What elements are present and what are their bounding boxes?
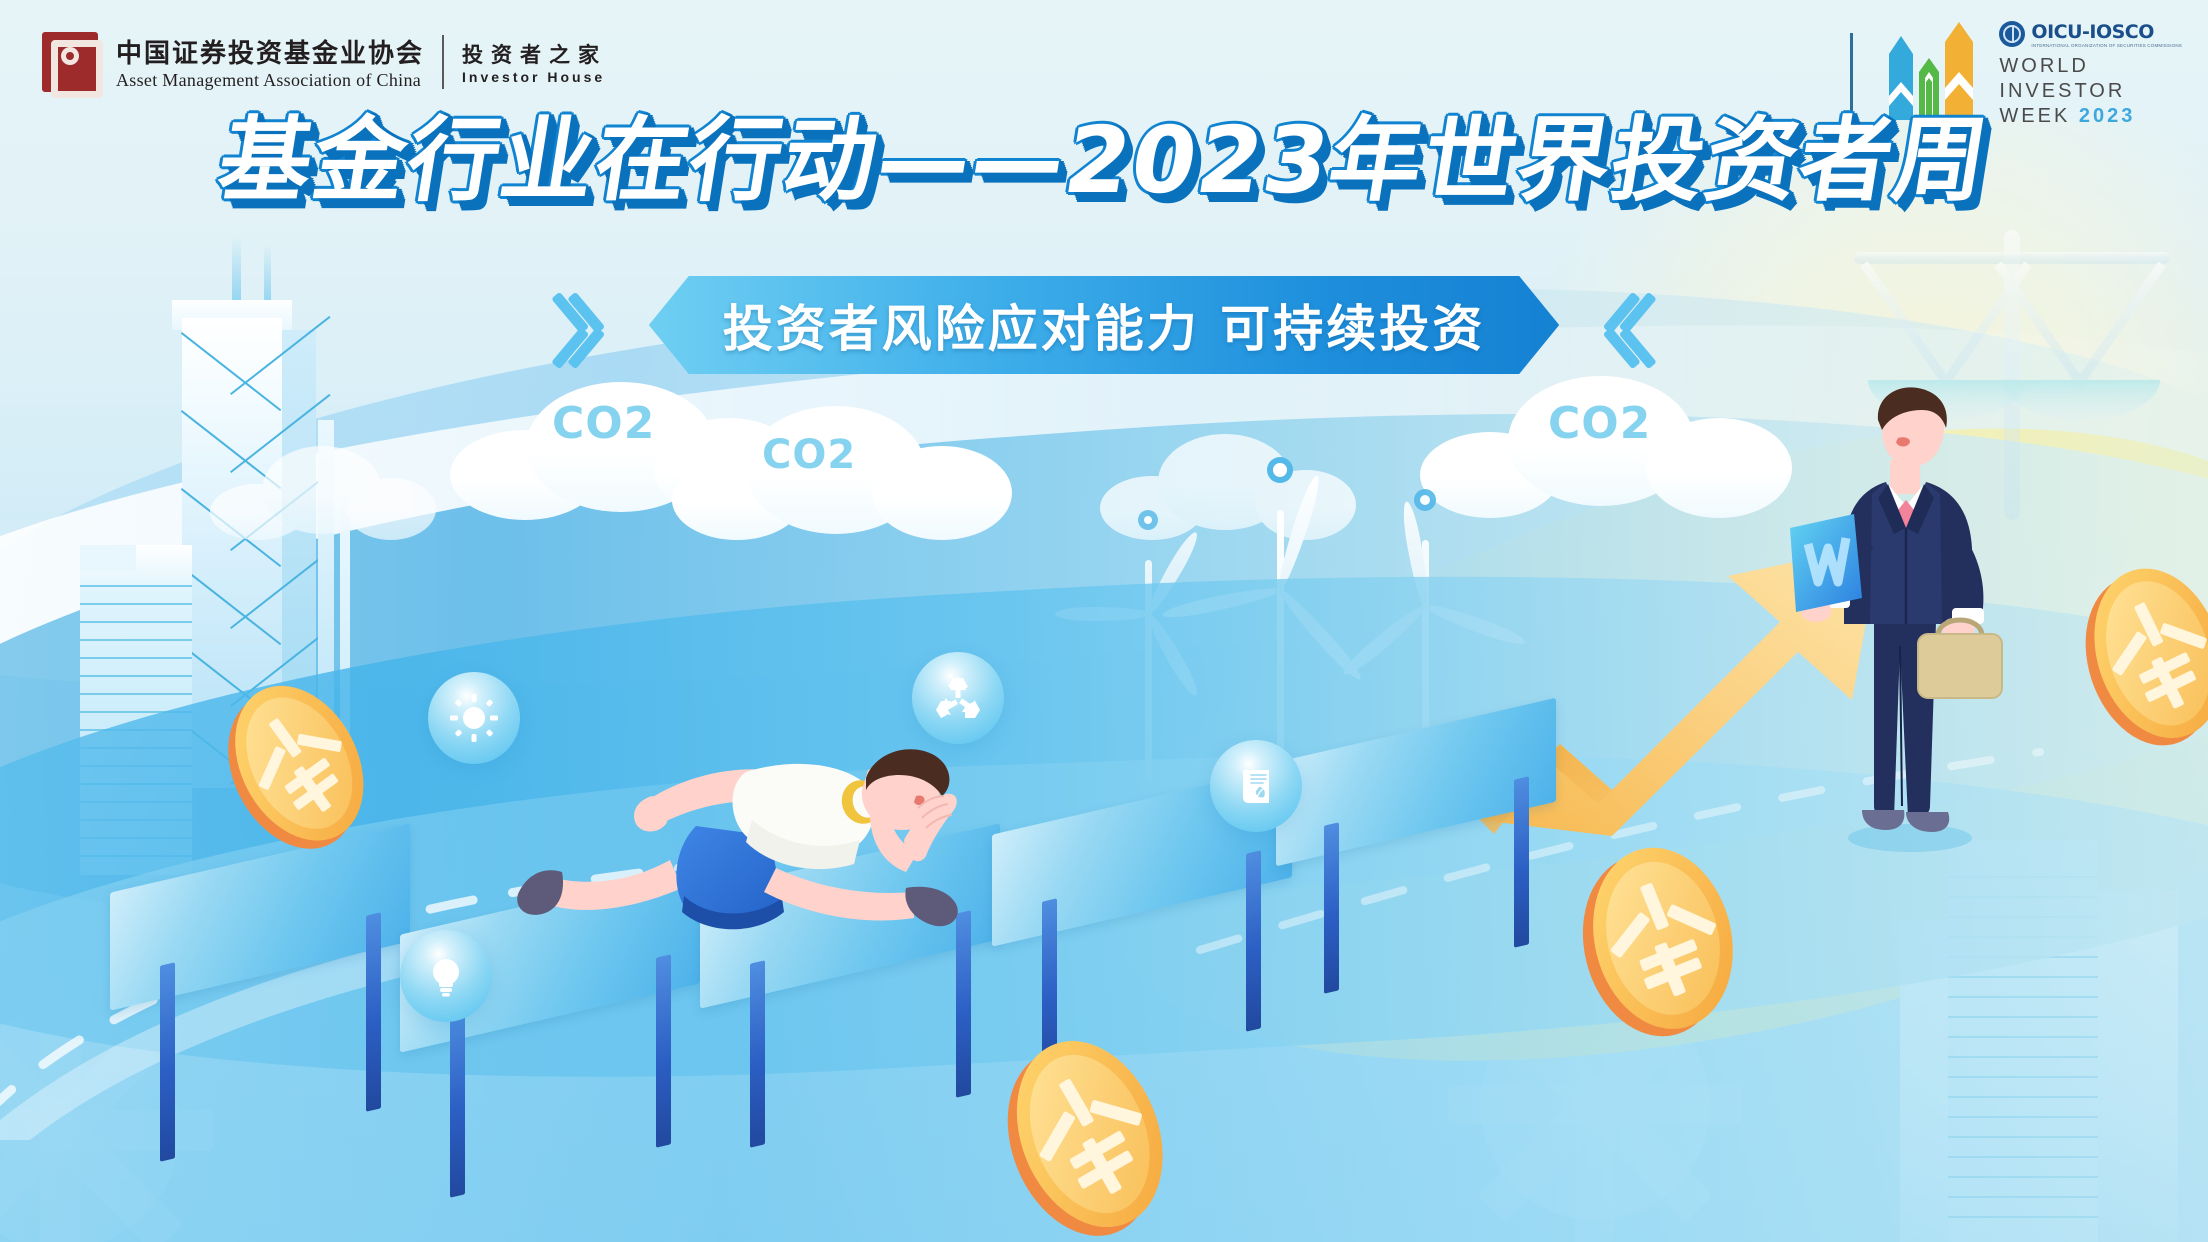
subtitle-banner: 投资者风险应对能力 可持续投资 bbox=[649, 276, 1559, 374]
hurdle-barrier bbox=[110, 858, 410, 1158]
co2-label: CO2 bbox=[762, 432, 856, 478]
amac-logo-text: 中国证券投资基金业协会 Asset Management Association… bbox=[116, 33, 424, 91]
hurdle-runner bbox=[470, 650, 990, 1000]
amac-name-cn: 中国证券投资基金业协会 bbox=[116, 33, 424, 70]
chevron-right-icon bbox=[1577, 289, 1623, 361]
amac-name-en: Asset Management Association of China bbox=[116, 70, 424, 91]
wiw-line-2: INVESTOR bbox=[1999, 80, 2182, 103]
building-notch bbox=[80, 545, 136, 571]
co2-label: CO2 bbox=[1548, 398, 1651, 449]
investor-house-cn: 投资者之家 bbox=[462, 39, 607, 69]
subtitle-text: 投资者风险应对能力 可持续投资 bbox=[723, 289, 1485, 361]
logo-rule bbox=[1850, 33, 1853, 115]
title-block: 基金行业在行动——2023年世界投资者周 bbox=[0, 112, 2208, 210]
page-title: 基金行业在行动——2023年世界投资者周 bbox=[212, 112, 1996, 210]
investor-house-en: Investor House bbox=[462, 69, 607, 85]
subtitle-block: 投资者风险应对能力 可持续投资 bbox=[0, 276, 2208, 374]
logo-divider bbox=[442, 35, 444, 89]
co2-label: CO2 bbox=[552, 398, 655, 449]
globe-icon bbox=[1999, 21, 2025, 47]
iosco-subtitle: INTERNATIONAL ORGANIZATION OF SECURITIES… bbox=[2031, 43, 2182, 48]
cloud bbox=[210, 440, 440, 540]
amac-logo: 中国证券投资基金业协会 Asset Management Association… bbox=[42, 32, 607, 92]
hurdle-barrier bbox=[1276, 730, 1556, 1010]
wiw-line-1: WORLD bbox=[1999, 55, 2182, 78]
businessman bbox=[1790, 386, 2020, 856]
iosco-name: OICU-IOSCO bbox=[2031, 21, 2182, 43]
eco-report-icon[interactable] bbox=[1210, 740, 1302, 832]
iosco-lockup: OICU-IOSCO INTERNATIONAL ORGANIZATION OF… bbox=[1999, 21, 2182, 48]
amac-seal-icon bbox=[42, 32, 98, 92]
investor-house-text: 投资者之家 Investor House bbox=[462, 39, 607, 85]
poster-canvas: CO2 CO2 CO2 bbox=[0, 0, 2208, 1242]
chevron-left-icon bbox=[585, 289, 631, 361]
